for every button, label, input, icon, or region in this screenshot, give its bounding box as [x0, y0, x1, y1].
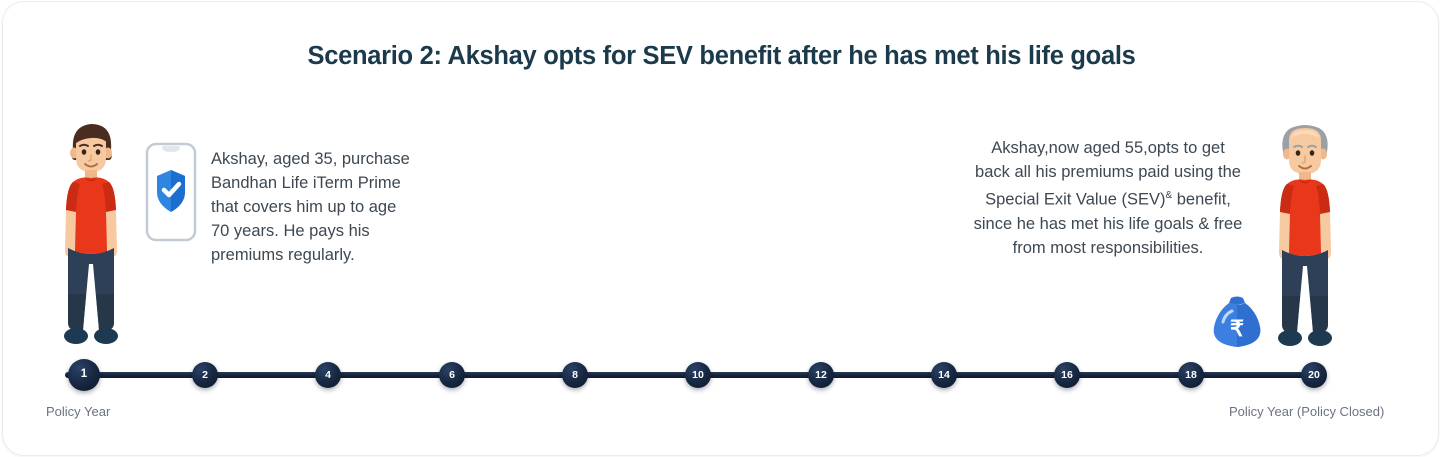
timeline-marker-14[interactable]: 14 [931, 362, 957, 388]
young-man-illustration [51, 114, 131, 364]
timeline-label-left: Policy Year [46, 404, 110, 419]
timeline-marker-12[interactable]: 12 [808, 362, 834, 388]
timeline-marker-20[interactable]: 20 [1301, 362, 1327, 388]
policy-year-timeline: 1 2 4 6 8 10 12 14 16 18 20 Policy Year … [3, 342, 1439, 422]
right-description-text: Akshay,now aged 55,opts to get back all … [973, 136, 1243, 260]
phone-shield-icon [145, 142, 197, 242]
rupee-symbol: ₹ [1230, 316, 1244, 341]
timeline-marker-6[interactable]: 6 [439, 362, 465, 388]
timeline-label-right: Policy Year (Policy Closed) [1229, 404, 1384, 419]
page-title: Scenario 2: Akshay opts for SEV benefit … [3, 42, 1439, 71]
timeline-marker-18[interactable]: 18 [1178, 362, 1204, 388]
scenario-card: Scenario 2: Akshay opts for SEV benefit … [2, 1, 1439, 456]
timeline-marker-1[interactable]: 1 [68, 359, 100, 391]
timeline-marker-2[interactable]: 2 [192, 362, 218, 388]
old-man-illustration [1261, 114, 1349, 364]
timeline-marker-16[interactable]: 16 [1054, 362, 1080, 388]
timeline-marker-10[interactable]: 10 [685, 362, 711, 388]
timeline-marker-4[interactable]: 4 [315, 362, 341, 388]
timeline-marker-8[interactable]: 8 [562, 362, 588, 388]
left-description-text: Akshay, aged 35, purchase Bandhan Life i… [211, 147, 411, 267]
